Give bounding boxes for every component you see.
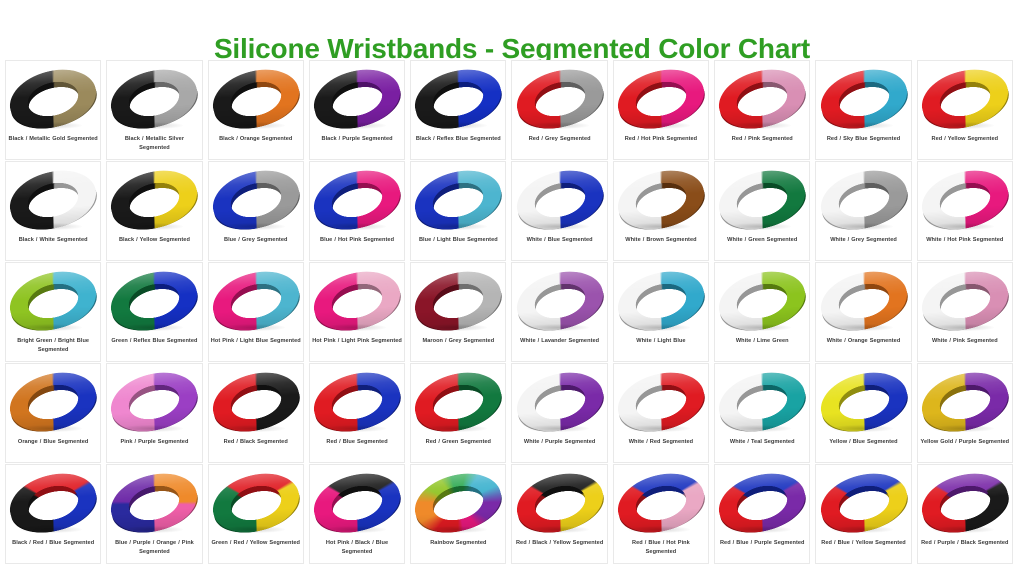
wristband-card-blue-purple-orange-pink-segmented[interactable]: Blue / Purple / Orange / Pink Segmented — [106, 464, 202, 564]
wristband-label: Orange / Blue Segmented — [8, 438, 98, 447]
wristband-card-red-black-segmented[interactable]: Red / Black Segmented — [208, 363, 304, 463]
wristband-image — [6, 65, 100, 133]
wristband-card-red-green-segmented[interactable]: Red / Green Segmented — [410, 363, 506, 463]
wristband-shadow — [121, 223, 183, 230]
wristband-shadow — [425, 526, 487, 533]
wristband-shadow — [831, 324, 893, 331]
wristband-label: Red / Yellow Segmented — [920, 135, 1010, 144]
wristband-shadow — [425, 324, 487, 331]
wristband-shadow — [121, 526, 183, 533]
wristband-image — [918, 267, 1012, 335]
color-chart-page: Silicone Wristbands - Segmented Color Ch… — [0, 0, 1024, 576]
wristband-label: White / Hot Pink Segmented — [920, 236, 1010, 245]
wristband-image — [107, 65, 201, 133]
wristband-card-white-hot-pink-segmented[interactable]: White / Hot Pink Segmented — [917, 161, 1013, 261]
wristband-image — [715, 469, 809, 537]
wristband-shadow — [628, 526, 690, 533]
wristband-shadow — [831, 526, 893, 533]
wristband-shadow — [831, 223, 893, 230]
wristband-label: Black / Metallic Silver Segmented — [109, 135, 199, 152]
wristband-card-green-reflex-blue-segmented[interactable]: Green / Reflex Blue Segmented — [106, 262, 202, 362]
wristband-image — [918, 469, 1012, 537]
wristband-card-rainbow-segmented[interactable]: Rainbow Segmented — [410, 464, 506, 564]
wristband-label: Blue / Grey Segmented — [211, 236, 301, 245]
wristband-image — [715, 368, 809, 436]
wristband-label: Blue / Hot Pink Segmented — [312, 236, 402, 245]
wristband-card-white-lavander-segmented[interactable]: White / Lavander Segmented — [511, 262, 607, 362]
wristband-card-red-blue-segmented[interactable]: Red / Blue Segmented — [309, 363, 405, 463]
wristband-card-white-teal-segmented[interactable]: White / Teal Segmented — [714, 363, 810, 463]
wristband-card-white-green-segmented[interactable]: White / Green Segmented — [714, 161, 810, 261]
wristband-image — [817, 166, 911, 234]
wristband-shadow — [527, 526, 589, 533]
wristband-label: Green / Reflex Blue Segmented — [109, 337, 199, 346]
wristband-label: Black / Reflex Blue Segmented — [413, 135, 503, 144]
wristband-image — [411, 368, 505, 436]
wristband-card-red-black-yellow-segmented[interactable]: Red / Black / Yellow Segmented — [511, 464, 607, 564]
wristband-image — [310, 65, 404, 133]
wristband-shadow — [324, 526, 386, 533]
wristband-card-black-orange-segmented[interactable]: Black / Orange Segmented — [208, 60, 304, 160]
wristband-label: Red / Pink Segmented — [717, 135, 807, 144]
wristband-image — [817, 469, 911, 537]
wristband-label: Hot Pink / Black / Blue Segmented — [312, 539, 402, 556]
wristband-label: Red / Green Segmented — [413, 438, 503, 447]
wristband-image — [209, 166, 303, 234]
wristband-card-white-purple-segmented[interactable]: White / Purple Segmented — [511, 363, 607, 463]
wristband-shadow — [932, 425, 994, 432]
wristband-card-red-blue-yellow-segmented[interactable]: Red / Blue / Yellow Segmented — [815, 464, 911, 564]
wristband-label: Red / Black / Yellow Segmented — [514, 539, 604, 548]
wristband-shadow — [932, 324, 994, 331]
wristband-image — [715, 267, 809, 335]
wristband-shadow — [729, 425, 791, 432]
wristband-label: Red / Hot Pink Segmented — [616, 135, 706, 144]
wristband-label: Black / Metallic Gold Segmented — [8, 135, 98, 144]
wristband-card-pink-purple-segmented[interactable]: Pink / Purple Segmented — [106, 363, 202, 463]
wristband-shadow — [932, 526, 994, 533]
wristband-image — [614, 267, 708, 335]
wristband-card-red-hot-pink-segmented[interactable]: Red / Hot Pink Segmented — [613, 60, 709, 160]
wristband-card-white-red-segmented[interactable]: White / Red Segmented — [613, 363, 709, 463]
wristband-label: Red / Grey Segmented — [514, 135, 604, 144]
wristband-shadow — [20, 425, 82, 432]
wristband-card-bright-green-bright-blue-segmented[interactable]: Bright Green / Bright Blue Segmented — [5, 262, 101, 362]
wristband-image — [715, 65, 809, 133]
wristband-card-red-pink-segmented[interactable]: Red / Pink Segmented — [714, 60, 810, 160]
wristband-card-red-purple-black-segmented[interactable]: Red / Purple / Black Segmented — [917, 464, 1013, 564]
wristband-card-white-blue-segmented[interactable]: White / Blue Segmented — [511, 161, 607, 261]
wristband-label: Black / Orange Segmented — [211, 135, 301, 144]
wristband-image — [411, 65, 505, 133]
wristband-card-red-sky-blue-segmented[interactable]: Red / Sky Blue Segmented — [815, 60, 911, 160]
wristband-label: White / Green Segmented — [717, 236, 807, 245]
wristband-shadow — [527, 122, 589, 129]
wristband-label: Maroon / Grey Segmented — [413, 337, 503, 346]
wristband-label: Yellow / Blue Segmented — [818, 438, 908, 447]
wristband-card-orange-blue-segmented[interactable]: Orange / Blue Segmented — [5, 363, 101, 463]
wristband-shadow — [324, 122, 386, 129]
wristband-image — [614, 65, 708, 133]
wristband-label: Green / Red / Yellow Segmented — [211, 539, 301, 548]
wristband-label: White / Orange Segmented — [818, 337, 908, 346]
wristband-label: White / Red Segmented — [616, 438, 706, 447]
wristband-card-red-yellow-segmented[interactable]: Red / Yellow Segmented — [917, 60, 1013, 160]
wristband-image — [310, 469, 404, 537]
wristband-label: Red / Blue / Hot Pink Segmented — [616, 539, 706, 556]
wristband-card-black-metallic-silver-segmented[interactable]: Black / Metallic Silver Segmented — [106, 60, 202, 160]
wristband-image — [310, 166, 404, 234]
wristband-shadow — [223, 526, 285, 533]
wristband-card-black-white-segmented[interactable]: Black / White Segmented — [5, 161, 101, 261]
wristband-card-red-blue-hot-pink-segmented[interactable]: Red / Blue / Hot Pink Segmented — [613, 464, 709, 564]
wristband-card-black-yellow-segmented[interactable]: Black / Yellow Segmented — [106, 161, 202, 261]
wristband-card-red-grey-segmented[interactable]: Red / Grey Segmented — [511, 60, 607, 160]
wristband-image — [614, 469, 708, 537]
wristband-label: White / Teal Segmented — [717, 438, 807, 447]
wristband-label: Black / Red / Blue Segmented — [8, 539, 98, 548]
wristband-card-yellow-blue-segmented[interactable]: Yellow / Blue Segmented — [815, 363, 911, 463]
wristband-image — [411, 166, 505, 234]
wristband-shadow — [223, 122, 285, 129]
wristband-image — [614, 166, 708, 234]
wristband-shadow — [20, 223, 82, 230]
wristband-image — [918, 368, 1012, 436]
wristband-shadow — [831, 122, 893, 129]
wristband-label: Hot Pink / Light Pink Segmented — [312, 337, 402, 346]
wristband-image — [817, 368, 911, 436]
wristband-shadow — [628, 223, 690, 230]
wristband-image — [107, 267, 201, 335]
wristband-image — [513, 368, 607, 436]
wristband-image — [614, 368, 708, 436]
wristband-label: Red / Purple / Black Segmented — [920, 539, 1010, 548]
wristband-shadow — [324, 223, 386, 230]
wristband-image — [6, 469, 100, 537]
wristband-shadow — [121, 324, 183, 331]
wristband-image — [918, 65, 1012, 133]
wristband-label: White / Pink Segmented — [920, 337, 1010, 346]
wristband-card-yellow-gold-purple-segmented[interactable]: Yellow Gold / Purple Segmented — [917, 363, 1013, 463]
wristband-image — [817, 267, 911, 335]
wristband-shadow — [932, 223, 994, 230]
wristband-image — [513, 166, 607, 234]
wristband-card-hot-pink-black-blue-segmented[interactable]: Hot Pink / Black / Blue Segmented — [309, 464, 405, 564]
wristband-image — [411, 267, 505, 335]
wristband-card-blue-grey-segmented[interactable]: Blue / Grey Segmented — [208, 161, 304, 261]
wristband-card-blue-light-blue-segmented[interactable]: Blue / Light Blue Segmented — [410, 161, 506, 261]
wristband-card-black-reflex-blue-segmented[interactable]: Black / Reflex Blue Segmented — [410, 60, 506, 160]
wristband-image — [310, 267, 404, 335]
wristband-image — [209, 267, 303, 335]
wristband-card-red-blue-purple-segmented[interactable]: Red / Blue / Purple Segmented — [714, 464, 810, 564]
wristband-image — [513, 469, 607, 537]
wristband-label: Red / Blue / Yellow Segmented — [818, 539, 908, 548]
wristband-label: Black / White Segmented — [8, 236, 98, 245]
wristband-label: Yellow Gold / Purple Segmented — [920, 438, 1010, 447]
wristband-grid: Black / Metallic Gold SegmentedBlack / M… — [5, 60, 1019, 564]
wristband-label: Pink / Purple Segmented — [109, 438, 199, 447]
wristband-label: Bright Green / Bright Blue Segmented — [8, 337, 98, 354]
wristband-shadow — [527, 223, 589, 230]
wristband-shadow — [425, 122, 487, 129]
wristband-card-white-pink-segmented[interactable]: White / Pink Segmented — [917, 262, 1013, 362]
wristband-label: Rainbow Segmented — [413, 539, 503, 548]
wristband-shadow — [223, 324, 285, 331]
wristband-card-white-light-blue[interactable]: White / Light Blue — [613, 262, 709, 362]
wristband-shadow — [729, 122, 791, 129]
wristband-card-black-purple-segmented[interactable]: Black / Purple Segmented — [309, 60, 405, 160]
wristband-card-white-orange-segmented[interactable]: White / Orange Segmented — [815, 262, 911, 362]
wristband-shadow — [527, 425, 589, 432]
wristband-shadow — [20, 324, 82, 331]
wristband-shadow — [628, 324, 690, 331]
wristband-shadow — [121, 122, 183, 129]
wristband-image — [310, 368, 404, 436]
wristband-card-white-brown-segmented[interactable]: White / Brown Segmented — [613, 161, 709, 261]
wristband-image — [107, 368, 201, 436]
wristband-shadow — [324, 324, 386, 331]
wristband-label: White / Lime Green — [717, 337, 807, 346]
wristband-image — [411, 469, 505, 537]
wristband-shadow — [20, 122, 82, 129]
wristband-card-white-grey-segmented[interactable]: White / Grey Segmented — [815, 161, 911, 261]
wristband-shadow — [729, 526, 791, 533]
wristband-card-hot-pink-light-blue-segmented[interactable]: Hot Pink / Light Blue Segmented — [208, 262, 304, 362]
wristband-shadow — [223, 223, 285, 230]
wristband-label: Red / Blue / Purple Segmented — [717, 539, 807, 548]
wristband-image — [513, 65, 607, 133]
wristband-label: Black / Purple Segmented — [312, 135, 402, 144]
wristband-image — [513, 267, 607, 335]
wristband-image — [6, 368, 100, 436]
wristband-shadow — [628, 425, 690, 432]
wristband-label: Red / Sky Blue Segmented — [818, 135, 908, 144]
wristband-shadow — [425, 425, 487, 432]
wristband-label: White / Purple Segmented — [514, 438, 604, 447]
wristband-shadow — [527, 324, 589, 331]
wristband-shadow — [121, 425, 183, 432]
wristband-image — [715, 166, 809, 234]
wristband-shadow — [729, 324, 791, 331]
wristband-label: Blue / Light Blue Segmented — [413, 236, 503, 245]
wristband-shadow — [324, 425, 386, 432]
wristband-label: White / Light Blue — [616, 337, 706, 346]
wristband-card-blue-hot-pink-segmented[interactable]: Blue / Hot Pink Segmented — [309, 161, 405, 261]
wristband-label: Hot Pink / Light Blue Segmented — [211, 337, 301, 346]
wristband-shadow — [20, 526, 82, 533]
wristband-shadow — [831, 425, 893, 432]
wristband-label: White / Lavander Segmented — [514, 337, 604, 346]
wristband-image — [6, 166, 100, 234]
wristband-card-white-lime-green[interactable]: White / Lime Green — [714, 262, 810, 362]
wristband-image — [918, 166, 1012, 234]
wristband-image — [209, 65, 303, 133]
wristband-label: Red / Black Segmented — [211, 438, 301, 447]
wristband-shadow — [932, 122, 994, 129]
wristband-image — [209, 469, 303, 537]
wristband-card-green-red-yellow-segmented[interactable]: Green / Red / Yellow Segmented — [208, 464, 304, 564]
wristband-card-maroon-grey-segmented[interactable]: Maroon / Grey Segmented — [410, 262, 506, 362]
wristband-image — [817, 65, 911, 133]
wristband-image — [209, 368, 303, 436]
wristband-label: White / Grey Segmented — [818, 236, 908, 245]
wristband-label: Blue / Purple / Orange / Pink Segmented — [109, 539, 199, 556]
wristband-card-black-red-blue-segmented[interactable]: Black / Red / Blue Segmented — [5, 464, 101, 564]
wristband-label: Black / Yellow Segmented — [109, 236, 199, 245]
wristband-label: White / Brown Segmented — [616, 236, 706, 245]
wristband-label: White / Blue Segmented — [514, 236, 604, 245]
wristband-shadow — [628, 122, 690, 129]
wristband-label: Red / Blue Segmented — [312, 438, 402, 447]
wristband-card-hot-pink-light-pink-segmented[interactable]: Hot Pink / Light Pink Segmented — [309, 262, 405, 362]
wristband-shadow — [425, 223, 487, 230]
wristband-image — [107, 166, 201, 234]
wristband-card-black-metallic-gold-segmented[interactable]: Black / Metallic Gold Segmented — [5, 60, 101, 160]
wristband-shadow — [729, 223, 791, 230]
wristband-image — [107, 469, 201, 537]
wristband-image — [6, 267, 100, 335]
wristband-shadow — [223, 425, 285, 432]
